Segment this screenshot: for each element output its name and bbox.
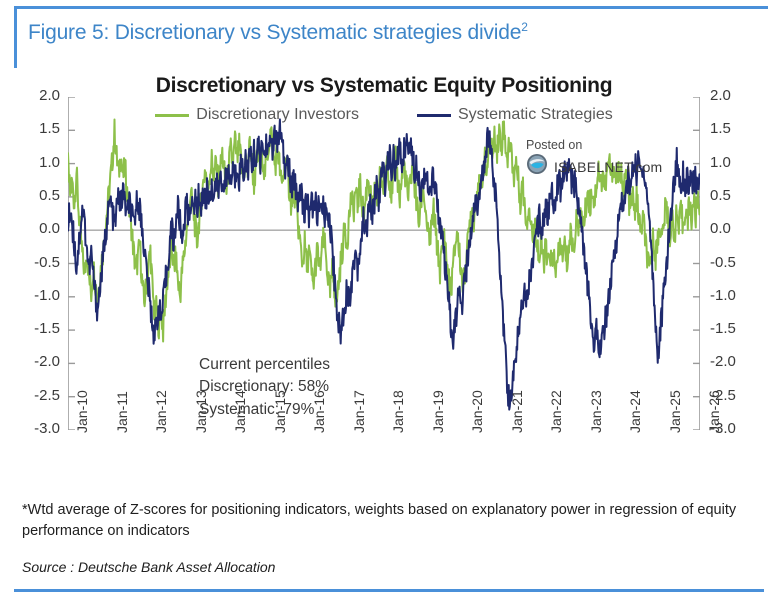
x-axis-tick-label: Jan-21 — [509, 390, 525, 433]
x-axis-tick-label: Jan-23 — [588, 390, 604, 433]
x-axis-tick-label: Jan-10 — [74, 390, 90, 433]
x-axis-tick-label: Jan-26 — [706, 390, 722, 433]
x-axis-tick-label: Jan-24 — [627, 390, 643, 433]
globe-swoosh-icon — [526, 153, 548, 180]
x-axis-tick-label: Jan-22 — [548, 390, 564, 433]
x-axis-tick-label: Jan-11 — [114, 391, 130, 433]
y-axis-right-tick-label: 2.0 — [710, 87, 754, 104]
x-axis-tick-label: Jan-18 — [390, 390, 406, 433]
y-axis-right-tick-label: 1.0 — [710, 154, 754, 171]
annotation-discretionary: Discretionary: 58% — [199, 376, 330, 398]
y-axis-left-tick-label: 1.5 — [16, 120, 60, 137]
y-axis-left-tick-label: -1.5 — [16, 320, 60, 337]
top-rule — [14, 6, 768, 9]
y-axis-left-tick-label: -2.5 — [16, 387, 60, 404]
watermark-posted-label: Posted on — [526, 138, 662, 152]
y-axis-left-tick-label: -2.0 — [16, 353, 60, 370]
left-rule — [14, 6, 17, 68]
y-axis-right-tick-label: 0.0 — [710, 220, 754, 237]
x-axis-tick-label: Jan-12 — [153, 390, 169, 433]
chart-title: Discretionary vs Systematic Equity Posit… — [0, 74, 768, 98]
bottom-rule — [14, 589, 764, 592]
current-percentiles-annotation: Current percentiles Discretionary: 58% S… — [199, 354, 330, 421]
watermark-site-name: ISABELNET.com — [554, 159, 662, 175]
y-axis-left-tick-label: 0.5 — [16, 187, 60, 204]
source-text: Source : Deutsche Bank Asset Allocation — [22, 559, 275, 575]
y-axis-right-tick-label: 0.5 — [710, 187, 754, 204]
y-axis-right-tick-label: -1.5 — [710, 320, 754, 337]
watermark: Posted on ISABELNET.com — [526, 138, 662, 180]
y-axis-right-tick-label: -0.5 — [710, 254, 754, 271]
x-axis-tick-label: Jan-20 — [469, 390, 485, 433]
x-axis-tick-label: Jan-17 — [351, 390, 367, 433]
y-axis-left-tick-label: -1.0 — [16, 287, 60, 304]
y-axis-left-tick-label: 1.0 — [16, 154, 60, 171]
footnote-text: *Wtd average of Z-scores for positioning… — [22, 500, 744, 541]
figure-panel: Figure 5: Discretionary vs Systematic st… — [0, 0, 768, 602]
figure-title: Figure 5: Discretionary vs Systematic st… — [28, 20, 528, 45]
x-axis-tick-label: Jan-25 — [667, 390, 683, 433]
y-axis-left-tick-label: 2.0 — [16, 87, 60, 104]
annotation-heading: Current percentiles — [199, 354, 330, 376]
y-axis-right-tick-label: 1.5 — [710, 120, 754, 137]
annotation-systematic: Systematic: 79% — [199, 399, 330, 421]
figure-title-text: Figure 5: Discretionary vs Systematic st… — [28, 21, 521, 44]
y-axis-left-tick-label: -0.5 — [16, 254, 60, 271]
y-axis-left-tick-label: 0.0 — [16, 220, 60, 237]
y-axis-right-tick-label: -2.0 — [710, 353, 754, 370]
y-axis-right-tick-label: -1.0 — [710, 287, 754, 304]
x-axis-tick-label: Jan-19 — [430, 390, 446, 433]
y-axis-left-tick-label: -3.0 — [16, 420, 60, 437]
figure-title-superscript: 2 — [521, 20, 527, 34]
